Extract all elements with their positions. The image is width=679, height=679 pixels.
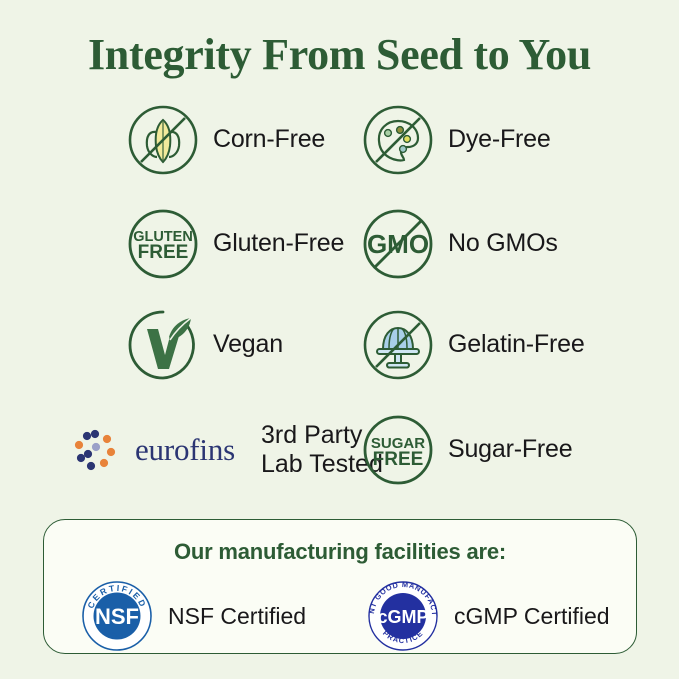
nsf-center-text: NSF — [95, 604, 139, 629]
badge-label: Corn-Free — [213, 125, 325, 155]
sugar-free-icon: SUGAR FREE — [360, 412, 436, 488]
eurofins-wordmark: eurofins — [135, 432, 235, 468]
certification-nsf: CERTIFIED GLUTEN-FREE NSF NSF Certified — [80, 579, 306, 653]
gluten-text-line2: FREE — [138, 242, 189, 263]
page-title: Integrity From Seed to You — [0, 29, 679, 80]
badge-label: Gelatin-Free — [448, 330, 585, 360]
badge-vegan: Vegan — [125, 305, 283, 385]
cgmp-seal-icon: CURRENT GOOD MANUFACTURING PRACTICE cGMP — [366, 579, 440, 653]
jelly-mold-icon — [360, 307, 436, 383]
eurofins-logo-icon — [57, 412, 133, 488]
certification-label: NSF Certified — [168, 603, 306, 630]
badge-grid: Corn-Free Dye-Free — [0, 100, 679, 500]
manufacturing-card: Our manufacturing facilities are: CERTIF… — [43, 519, 637, 654]
badge-no-gmos: GMO No GMOs — [360, 204, 558, 284]
badge-label: Gluten-Free — [213, 229, 344, 259]
certifications-row: CERTIFIED GLUTEN-FREE NSF NSF Certified — [44, 579, 636, 653]
certification-label: cGMP Certified — [454, 603, 610, 630]
badge-gelatin-free: Gelatin-Free — [360, 305, 585, 385]
badge-lab-tested: eurofins 3rd Party Lab Tested — [57, 410, 383, 490]
badge-label: Sugar-Free — [448, 435, 572, 465]
badge-label: No GMOs — [448, 229, 558, 259]
badge-label: Dye-Free — [448, 125, 551, 155]
badge-corn-free: Corn-Free — [125, 100, 325, 180]
badge-gluten-free: GLUTEN FREE Gluten-Free — [125, 204, 344, 284]
cgmp-center-text: cGMP — [378, 607, 429, 627]
palette-icon — [360, 102, 436, 178]
gluten-free-icon: GLUTEN FREE — [125, 206, 201, 282]
corn-icon — [125, 102, 201, 178]
sugar-text-line2: FREE — [373, 449, 424, 470]
badge-label: Vegan — [213, 330, 283, 360]
badge-dye-free: Dye-Free — [360, 100, 551, 180]
vegan-leaf-icon — [125, 307, 201, 383]
certification-cgmp: CURRENT GOOD MANUFACTURING PRACTICE cGMP… — [366, 579, 610, 653]
gmo-icon: GMO — [360, 206, 436, 282]
card-title: Our manufacturing facilities are: — [44, 539, 636, 565]
nsf-gluten-free-seal-icon: CERTIFIED GLUTEN-FREE NSF — [80, 579, 154, 653]
infographic-page: Integrity From Seed to You Corn-Free — [0, 0, 679, 679]
badge-sugar-free: SUGAR FREE Sugar-Free — [360, 410, 572, 490]
